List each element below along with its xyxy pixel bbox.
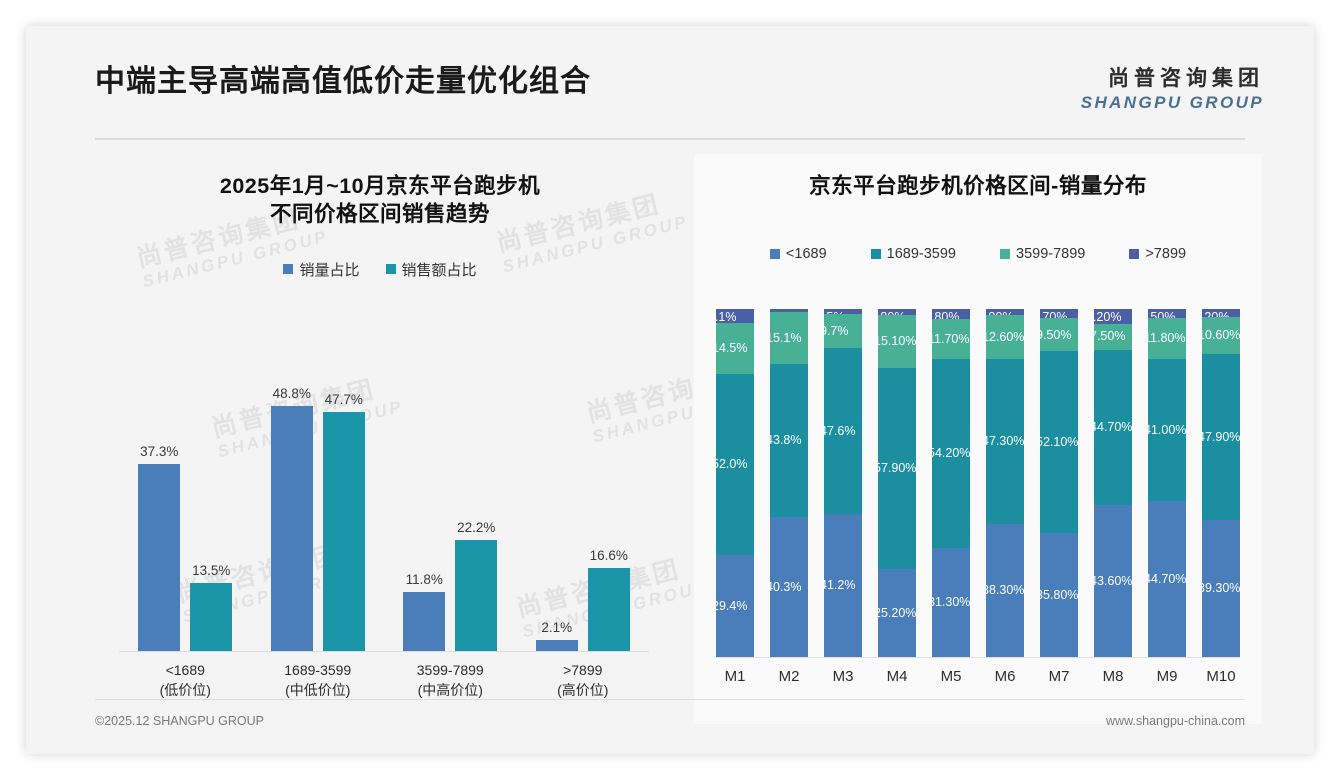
stack-segment-label: 41.00% xyxy=(1148,424,1186,437)
stacked-bar-column[interactable]: 0.8%15.1%43.8%40.3% xyxy=(770,309,808,657)
page-title: 中端主导高端高值低价走量优化组合 xyxy=(95,56,591,100)
stack-segment[interactable]: 15.10% xyxy=(878,315,916,368)
stack-segment[interactable]: 54.20% xyxy=(932,359,970,548)
category-name: 1689-3599 xyxy=(260,660,376,680)
stack-segment-label: 52.0% xyxy=(716,458,747,471)
stack-segment-label: 44.70% xyxy=(1148,573,1186,586)
legend-swatch-icon xyxy=(770,249,780,259)
bar-group: 48.8% 47.7% xyxy=(260,375,376,651)
slide-footer: ©2025.12 SHANGPU GROUP www.shangpu-china… xyxy=(95,714,1245,728)
stack-segment-label: 47.30% xyxy=(986,435,1024,448)
stack-segment[interactable]: 39.30% xyxy=(1202,520,1240,657)
stack-segment-label: 47.90% xyxy=(1202,431,1240,444)
footer-divider xyxy=(95,699,1245,700)
bar-column[interactable]: 16.6% xyxy=(588,375,630,651)
bar-amount[interactable] xyxy=(455,540,497,651)
stack-segment-label: 41.2% xyxy=(824,579,855,592)
stack-segment-label: 25.20% xyxy=(878,607,916,620)
stack-segment-label: 14.5% xyxy=(716,342,747,355)
right-chart-category-axis: M1M2M3M4M5M6M7M8M9M10 xyxy=(716,658,1240,702)
stack-segment-label: 9.50% xyxy=(1040,329,1071,342)
stack-segment[interactable]: 25.20% xyxy=(878,569,916,657)
legend-swatch-icon xyxy=(283,264,293,274)
category-sublabel: (高价位) xyxy=(525,680,641,700)
legend-label: 1689-3599 xyxy=(887,246,956,262)
footer-copyright: ©2025.12 SHANGPU GROUP xyxy=(95,714,264,728)
legend-item-gt7899[interactable]: >7899 xyxy=(1129,246,1186,262)
stack-segment[interactable]: 2.70% xyxy=(1040,309,1078,318)
header-divider xyxy=(95,138,1245,140)
stack-segment[interactable]: 9.7% xyxy=(824,314,862,348)
stack-segment-label: 52.10% xyxy=(1040,436,1078,449)
stack-segment[interactable]: 2.20% xyxy=(1202,309,1240,317)
stack-segment[interactable]: 7.50% xyxy=(1094,324,1132,350)
bar-volume[interactable] xyxy=(403,592,445,651)
stack-segment[interactable]: 10.60% xyxy=(1202,317,1240,354)
stack-segment-label: 38.30% xyxy=(986,584,1024,597)
stacked-bar-column[interactable]: 1.5%9.7%47.6%41.2% xyxy=(824,309,862,657)
bar-value-label: 11.8% xyxy=(406,572,443,587)
left-chart-bar-groups: 37.3% 13.5% 48.8% 47.7% xyxy=(119,375,649,651)
stack-segment-label: 35.80% xyxy=(1040,589,1078,602)
stack-segment[interactable]: 44.70% xyxy=(1148,501,1186,657)
left-chart-title-line2: 不同价格区间销售趋势 xyxy=(95,200,665,228)
stacked-bar-column[interactable]: 2.50%11.80%41.00%44.70% xyxy=(1148,309,1186,657)
stack-segment-label: 4.20% xyxy=(1094,311,1121,324)
bar-column[interactable]: 13.5% xyxy=(190,375,232,651)
stack-segment[interactable]: 47.30% xyxy=(986,359,1024,524)
stack-segment[interactable]: 41.00% xyxy=(1148,359,1186,502)
stack-segment[interactable]: 15.1% xyxy=(770,312,808,365)
category-sublabel: (中低价位) xyxy=(260,680,376,700)
legend-swatch-icon xyxy=(386,264,396,274)
logo-text-en: SHANGPU GROUP xyxy=(1081,93,1264,113)
bar-column[interactable]: 37.3% xyxy=(138,375,180,651)
stack-segment-label: 9.7% xyxy=(824,325,849,338)
stack-segment-label: 15.10% xyxy=(878,335,916,348)
legend-item-3599-7899[interactable]: 3599-7899 xyxy=(1000,246,1085,262)
category-label: M5 xyxy=(932,668,970,685)
stacked-bar-column[interactable]: 1.80%15.10%57.90%25.20% xyxy=(878,309,916,657)
legend-swatch-icon xyxy=(1129,249,1139,259)
category-label: 3599-7899 (中高价位) xyxy=(392,660,508,701)
category-name: 3599-7899 xyxy=(392,660,508,680)
bar-value-label: 48.8% xyxy=(273,386,311,401)
brand-logo: 尚普咨询集团 SHANGPU GROUP xyxy=(1081,62,1264,113)
stack-segment[interactable]: 31.30% xyxy=(932,548,970,657)
category-label: M2 xyxy=(770,668,808,685)
left-chart-title-line1: 2025年1月~10月京东平台跑步机 xyxy=(95,172,665,200)
stack-segment-label: 4.1% xyxy=(716,311,737,324)
stack-segment-label: 29.4% xyxy=(716,600,747,613)
bar-column[interactable]: 11.8% xyxy=(403,375,445,651)
legend-swatch-icon xyxy=(871,249,881,259)
category-label: M1 xyxy=(716,668,754,685)
stacked-bars: 4.1%14.5%52.0%29.4%0.8%15.1%43.8%40.3%1.… xyxy=(716,309,1240,657)
stack-segment[interactable]: 2.80% xyxy=(932,309,970,319)
stacked-bar-column[interactable]: 2.20%10.60%47.90%39.30% xyxy=(1202,309,1240,657)
stack-segment-label: 47.6% xyxy=(824,425,855,438)
slide-canvas: 尚普咨询集团 SHANGPU GROUP 尚普咨询集团 SHANGPU GROU… xyxy=(26,26,1314,754)
stack-segment[interactable]: 29.4% xyxy=(716,555,754,657)
right-chart-plot: 4.1%14.5%52.0%29.4%0.8%15.1%43.8%40.3%1.… xyxy=(710,314,1246,702)
stack-segment[interactable]: 14.5% xyxy=(716,323,754,373)
bar-volume[interactable] xyxy=(271,406,313,651)
stack-segment[interactable]: 43.8% xyxy=(770,364,808,516)
stack-segment-label: 40.3% xyxy=(770,581,801,594)
bar-amount[interactable] xyxy=(588,568,630,651)
bar-volume[interactable] xyxy=(536,640,578,651)
stack-segment-label: 43.60% xyxy=(1094,575,1132,588)
bar-value-label: 16.6% xyxy=(590,548,628,563)
legend-label: 销售额占比 xyxy=(402,259,477,280)
legend-swatch-icon xyxy=(1000,249,1010,259)
left-chart-legend: 销量占比 销售额占比 xyxy=(95,259,665,280)
category-label: M9 xyxy=(1148,668,1186,685)
stack-segment[interactable]: 2.50% xyxy=(1148,309,1186,318)
category-label: M4 xyxy=(878,668,916,685)
stack-segment[interactable]: 38.30% xyxy=(986,524,1024,657)
stack-segment-label: 57.90% xyxy=(878,462,916,475)
stack-segment[interactable]: 40.3% xyxy=(770,517,808,657)
stack-segment-label: 43.8% xyxy=(770,434,801,447)
stack-segment[interactable]: 41.2% xyxy=(824,514,862,657)
right-chart-title: 京东平台跑步机价格区间-销量分布 xyxy=(694,172,1262,200)
stack-segment-label: 7.50% xyxy=(1094,330,1125,343)
stack-segment[interactable]: 35.80% xyxy=(1040,533,1078,657)
logo-text-cn: 尚普咨询集团 xyxy=(1081,62,1264,92)
stack-segment-label: 15.1% xyxy=(770,332,801,345)
category-name: >7899 xyxy=(525,660,641,680)
bar-value-label: 47.7% xyxy=(325,392,363,407)
bar-value-label: 37.3% xyxy=(140,444,178,459)
left-chart-plot: 37.3% 13.5% 48.8% 47.7% xyxy=(119,376,649,708)
legend-item-amount-share[interactable]: 销售额占比 xyxy=(386,259,477,280)
stack-segment[interactable]: 52.10% xyxy=(1040,351,1078,532)
category-label: M10 xyxy=(1202,668,1240,685)
stack-segment-label: 12.60% xyxy=(986,331,1024,344)
stack-segment[interactable]: 44.70% xyxy=(1094,350,1132,506)
stack-segment[interactable]: 4.20% xyxy=(1094,309,1132,324)
category-label: M6 xyxy=(986,668,1024,685)
bar-volume[interactable] xyxy=(138,464,180,651)
stacked-bar-column[interactable]: 4.20%7.50%44.70%43.60% xyxy=(1094,309,1132,657)
bar-value-label: 22.2% xyxy=(457,520,495,535)
footer-website: www.shangpu-china.com xyxy=(1106,714,1245,728)
category-name: <1689 xyxy=(127,660,243,680)
category-sublabel: (低价位) xyxy=(127,680,243,700)
stack-segment[interactable]: 12.60% xyxy=(986,315,1024,359)
stacked-bar-column[interactable]: 1.80%12.60%47.30%38.30% xyxy=(986,309,1024,657)
category-label: <1689 (低价位) xyxy=(127,660,243,701)
category-label: M7 xyxy=(1040,668,1078,685)
category-label: >7899 (高价位) xyxy=(525,660,641,701)
stack-segment[interactable]: 47.90% xyxy=(1202,354,1240,521)
bar-group: 2.1% 16.6% xyxy=(525,375,641,651)
category-label: 1689-3599 (中低价位) xyxy=(260,660,376,701)
bar-amount[interactable] xyxy=(190,583,232,651)
stack-segment[interactable]: 52.0% xyxy=(716,374,754,555)
stack-segment[interactable]: 4.1% xyxy=(716,309,754,323)
stack-segment-label: 11.80% xyxy=(1148,332,1185,345)
stack-segment-label: 44.70% xyxy=(1094,421,1132,434)
legend-item-volume-share[interactable]: 销量占比 xyxy=(283,259,359,280)
bar-column[interactable]: 22.2% xyxy=(455,375,497,651)
legend-label: 销量占比 xyxy=(299,259,359,280)
left-chart-title: 2025年1月~10月京东平台跑步机 不同价格区间销售趋势 xyxy=(95,172,665,229)
stack-segment[interactable]: 11.70% xyxy=(932,319,970,360)
stack-segment-label: 31.30% xyxy=(932,596,970,609)
category-label: M3 xyxy=(824,668,862,685)
stack-segment-label: 54.20% xyxy=(932,447,970,460)
legend-item-1689-3599[interactable]: 1689-3599 xyxy=(871,246,956,262)
legend-label: >7899 xyxy=(1145,246,1186,262)
stack-segment[interactable]: 11.80% xyxy=(1148,318,1186,359)
stack-segment[interactable]: 57.90% xyxy=(878,368,916,569)
bar-column[interactable]: 47.7% xyxy=(323,375,365,651)
stack-segment-label: 39.30% xyxy=(1202,582,1240,595)
stacked-bar-column[interactable]: 2.80%11.70%54.20%31.30% xyxy=(932,309,970,657)
stack-segment[interactable]: 43.60% xyxy=(1094,505,1132,657)
stack-segment-label: 11.70% xyxy=(932,333,969,346)
left-chart-panel: 2025年1月~10月京东平台跑步机 不同价格区间销售趋势 销量占比 销售额占比… xyxy=(95,154,665,724)
bar-value-label: 2.1% xyxy=(541,620,572,635)
category-sublabel: (中高价位) xyxy=(392,680,508,700)
stack-segment[interactable]: 47.6% xyxy=(824,348,862,514)
stacked-bar-column[interactable]: 2.70%9.50%52.10%35.80% xyxy=(1040,309,1078,657)
bar-group: 37.3% 13.5% xyxy=(127,375,243,651)
category-label: M8 xyxy=(1094,668,1132,685)
right-chart-panel: 京东平台跑步机价格区间-销量分布 <1689 1689-3599 3599-78… xyxy=(694,154,1262,724)
stacked-bar-column[interactable]: 4.1%14.5%52.0%29.4% xyxy=(716,309,754,657)
bar-amount[interactable] xyxy=(323,412,365,651)
bar-column[interactable]: 2.1% xyxy=(536,375,578,651)
stack-segment[interactable]: 9.50% xyxy=(1040,318,1078,351)
bar-value-label: 13.5% xyxy=(192,563,230,578)
right-chart-legend: <1689 1689-3599 3599-7899 >7899 xyxy=(694,246,1262,262)
bar-column[interactable]: 48.8% xyxy=(271,375,313,651)
stack-segment-label: 10.60% xyxy=(1202,329,1240,342)
legend-item-lt1689[interactable]: <1689 xyxy=(770,246,827,262)
bar-group: 11.8% 22.2% xyxy=(392,375,508,651)
legend-label: 3599-7899 xyxy=(1016,246,1085,262)
slide-header: 中端主导高端高值低价走量优化组合 尚普咨询集团 SHANGPU GROUP xyxy=(26,26,1314,122)
legend-label: <1689 xyxy=(786,246,827,262)
